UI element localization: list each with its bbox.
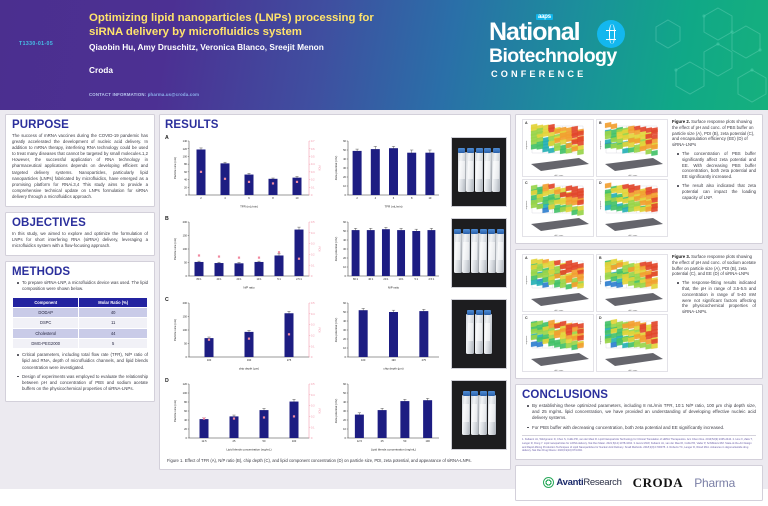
svg-text:Particle size (nm): Particle size (nm) xyxy=(173,238,177,260)
surface-plot-c: CresponsepH / conc. xyxy=(522,179,594,237)
conclusions-section: CONCLUSIONS By establishing these optimi… xyxy=(515,384,763,460)
svg-text:50: 50 xyxy=(403,439,406,443)
svg-text:Lipid blends concentration (mg: Lipid blends concentration (mg/mL) xyxy=(371,448,416,452)
svg-text:0: 0 xyxy=(186,274,188,278)
surface-plot-b: BresponsepH / conc. xyxy=(596,254,668,312)
methods-bullet: Design of experiments was employed to ev… xyxy=(18,374,148,392)
svg-text:2: 2 xyxy=(356,196,358,200)
svg-text:80:1: 80:1 xyxy=(353,277,359,281)
svg-text:60: 60 xyxy=(343,220,346,224)
panel-letter: A xyxy=(525,256,528,260)
svg-text:response: response xyxy=(525,140,528,149)
svg-text:5:1: 5:1 xyxy=(414,277,418,281)
svg-text:pH / conc.: pH / conc. xyxy=(554,235,564,237)
svg-text:40: 40 xyxy=(184,178,187,182)
vial-photo-c xyxy=(451,299,507,369)
panel-letter: D xyxy=(599,181,602,185)
svg-text:0: 0 xyxy=(345,436,347,440)
svg-text:30: 30 xyxy=(343,328,346,332)
svg-text:100: 100 xyxy=(207,358,212,362)
svg-text:40:1: 40:1 xyxy=(368,277,374,281)
poster-canvas: T1330-01-05 Optimizing lipid nanoparticl… xyxy=(0,0,768,489)
author-list: Qiaobin Hu, Amy Druschitz, Veronica Blan… xyxy=(89,42,399,54)
vial-photo-b xyxy=(451,218,507,288)
svg-text:100: 100 xyxy=(183,155,188,159)
figure1-caption: Figure 1. Effect of TFR (A), N/P ratio (… xyxy=(167,458,503,464)
svg-text:response: response xyxy=(525,335,528,344)
svg-text:25: 25 xyxy=(233,439,236,443)
panel-letter: C xyxy=(525,316,528,320)
panel-letter: B xyxy=(599,256,602,260)
svg-text:40:1: 40:1 xyxy=(216,277,222,281)
svg-text:12.5: 12.5 xyxy=(357,439,363,443)
conclusions-bullet: For PBS buffer with decreasing concentra… xyxy=(528,425,756,431)
svg-text:80: 80 xyxy=(184,400,187,404)
cell-component: DODAP xyxy=(13,307,79,317)
svg-text:N/P ratio: N/P ratio xyxy=(243,286,255,290)
svg-text:20:1: 20:1 xyxy=(383,277,389,281)
chart-zeta-potential-a: 0102030405060246810TFR (mL/min)Zeta pote… xyxy=(333,137,443,209)
svg-text:100: 100 xyxy=(183,328,188,332)
svg-text:response: response xyxy=(525,275,528,284)
svg-text:Particle size (nm): Particle size (nm) xyxy=(173,400,177,422)
panel-letter: B xyxy=(599,121,602,125)
svg-text:0: 0 xyxy=(345,274,347,278)
logo-line-national: National xyxy=(489,20,580,45)
cell-component: DMG-PEG2000 xyxy=(13,339,79,349)
objectives-title: OBJECTIVES xyxy=(12,217,148,229)
svg-text:0.2: 0.2 xyxy=(311,179,315,182)
svg-text:100: 100 xyxy=(425,439,430,443)
svg-text:12.5: 12.5 xyxy=(201,439,207,443)
svg-text:Zeta potential (mV): Zeta potential (mV) xyxy=(334,399,338,424)
svg-text:Zeta potential (mV): Zeta potential (mV) xyxy=(334,318,338,343)
avanti-text: AvantiResearch xyxy=(556,477,621,488)
middle-column: RESULTS A02040608010012014000.10.20.30.4… xyxy=(159,114,511,475)
methods-intro: To prepare siRNA-LNP, a microfluidics de… xyxy=(18,280,148,292)
svg-text:30: 30 xyxy=(343,166,346,170)
results-panel-d: D02040608010012000.10.20.30.40.5PDI12.52… xyxy=(165,376,505,456)
svg-text:20: 20 xyxy=(343,337,346,341)
figure2-caption-label: Figure 2. xyxy=(672,119,690,124)
svg-text:Lipid blends concentration (mg: Lipid blends concentration (mg/mL) xyxy=(226,448,271,452)
svg-text:pH / conc.: pH / conc. xyxy=(554,310,564,312)
svg-text:0.5: 0.5 xyxy=(311,156,315,159)
svg-text:Particle size (nm): Particle size (nm) xyxy=(173,157,177,179)
purpose-title: PURPOSE xyxy=(12,119,148,131)
surface-plot-d: DresponsepH / conc. xyxy=(596,314,668,372)
svg-text:2.5:1: 2.5:1 xyxy=(296,277,302,281)
svg-text:0.6: 0.6 xyxy=(311,148,315,151)
figure2-caption: Figure 2. Surface response plots showing… xyxy=(672,119,756,148)
svg-text:0.5: 0.5 xyxy=(311,302,315,305)
vial xyxy=(484,152,492,192)
svg-text:50: 50 xyxy=(343,391,346,395)
vial xyxy=(471,233,479,273)
chart-particle-size-c: 05010015020000.10.20.30.40.5PDI100190275… xyxy=(172,299,322,371)
surface-plot-a: AresponsepH / conc. xyxy=(522,119,594,177)
svg-text:275: 275 xyxy=(422,358,427,362)
cell-ratio: 44 xyxy=(79,328,148,338)
svg-text:150: 150 xyxy=(183,315,188,319)
methods-bullet: Critical parameters, including total flo… xyxy=(18,352,148,370)
svg-text:10: 10 xyxy=(343,265,346,269)
svg-text:6: 6 xyxy=(248,196,250,200)
svg-text:PDI: PDI xyxy=(318,165,322,170)
svg-text:response: response xyxy=(599,140,602,149)
purpose-text: The success of mRNA vaccines during the … xyxy=(12,133,148,200)
svg-text:chip depth (µm): chip depth (µm) xyxy=(239,367,259,371)
purpose-section: PURPOSE The success of mRNA vaccines dur… xyxy=(5,114,155,207)
svg-text:275: 275 xyxy=(287,358,292,362)
affiliation: Croda xyxy=(89,65,113,75)
figure3-text: Figure 3. Surface response plots showing… xyxy=(672,254,756,372)
svg-text:0.3: 0.3 xyxy=(311,243,315,246)
panel-letter: A xyxy=(165,135,169,141)
methods-title: METHODS xyxy=(12,266,148,278)
figure3-caption-label: Figure 3. xyxy=(672,254,690,259)
vial xyxy=(454,233,462,273)
svg-text:20: 20 xyxy=(343,418,346,422)
results-panel-a: A02040608010012014000.10.20.30.40.50.60.… xyxy=(165,133,505,213)
svg-text:8: 8 xyxy=(272,196,274,200)
svg-text:0: 0 xyxy=(311,275,313,278)
svg-text:60: 60 xyxy=(343,301,346,305)
svg-text:40: 40 xyxy=(343,157,346,161)
poster-header: T1330-01-05 Optimizing lipid nanoparticl… xyxy=(0,0,768,110)
svg-text:response: response xyxy=(599,200,602,209)
svg-text:2: 2 xyxy=(200,196,202,200)
croda-logo: CRODA xyxy=(633,475,684,491)
contact-label: CONTACT INFORMATION: xyxy=(89,92,146,97)
svg-text:TFR (mL/min): TFR (mL/min) xyxy=(240,205,258,209)
cell-component: Cholesterol xyxy=(13,328,79,338)
right-column: AresponsepH / conc.BresponsepH / conc.Cr… xyxy=(515,114,763,506)
svg-text:60: 60 xyxy=(184,170,187,174)
avanti-research-logo: AvantiResearch xyxy=(543,477,622,488)
figure2-text: Figure 2. Surface response plots showing… xyxy=(672,119,756,237)
figure3-caption: Figure 3. Surface response plots showing… xyxy=(672,254,756,277)
svg-text:120: 120 xyxy=(183,382,188,386)
cell-component: DSPC xyxy=(13,318,79,328)
surface-plot-b: BresponsepH / conc. xyxy=(596,119,668,177)
svg-text:100: 100 xyxy=(361,358,366,362)
svg-text:0.2: 0.2 xyxy=(311,416,315,419)
column-header-molar-ratio: Molar Ratio (%) xyxy=(79,297,148,307)
svg-text:100: 100 xyxy=(292,439,297,443)
vial xyxy=(496,233,504,273)
svg-text:40: 40 xyxy=(343,400,346,404)
poster-id: T1330-01-05 xyxy=(19,41,53,47)
figure2-bullet: The result also indicated that zeta pote… xyxy=(678,183,756,200)
figure3-surface-plots: AresponsepH / conc.BresponsepH / conc.Cr… xyxy=(522,254,668,372)
objectives-section: OBJECTIVES In this study, we aimed to ex… xyxy=(5,212,155,256)
svg-text:pH / conc.: pH / conc. xyxy=(554,370,564,372)
chart-zeta-potential-c: 0102030405060100190275chip depth (µm)Zet… xyxy=(333,299,443,371)
figure2-bullets: The concentration of PBS buffer signific… xyxy=(672,151,756,200)
figure3-bullet: The response-fitting results indicated t… xyxy=(678,280,756,315)
svg-text:10: 10 xyxy=(343,346,346,350)
svg-text:50: 50 xyxy=(184,342,187,346)
svg-text:N/P ratio: N/P ratio xyxy=(388,286,400,290)
surface-plot-d: DresponsepH / conc. xyxy=(596,179,668,237)
svg-text:response: response xyxy=(599,275,602,284)
svg-text:4: 4 xyxy=(224,196,226,200)
svg-text:20: 20 xyxy=(184,427,187,431)
svg-text:30: 30 xyxy=(343,247,346,251)
svg-text:Particle size (nm): Particle size (nm) xyxy=(173,319,177,341)
results-section: RESULTS A02040608010012014000.10.20.30.4… xyxy=(159,114,511,470)
svg-text:chip depth (µm): chip depth (µm) xyxy=(383,367,403,371)
table-row: DSPC 11 xyxy=(13,318,148,328)
panel-letter: D xyxy=(599,316,602,320)
svg-text:10: 10 xyxy=(343,184,346,188)
svg-text:2.5:1: 2.5:1 xyxy=(429,277,435,281)
svg-text:50: 50 xyxy=(343,229,346,233)
vial xyxy=(462,233,470,273)
methods-section: METHODS To prepare siRNA-LNP, a microflu… xyxy=(5,261,155,402)
conclusions-bullet: By establishing these optimized paramete… xyxy=(528,403,756,422)
svg-text:10: 10 xyxy=(428,196,431,200)
vial-photo-a xyxy=(451,137,507,207)
vial xyxy=(488,395,496,435)
contact-info: CONTACT INFORMATION: pharma.us@croda.com xyxy=(89,92,199,97)
svg-text:60: 60 xyxy=(343,139,346,143)
chart-particle-size-a: 02040608010012014000.10.20.30.40.50.60.7… xyxy=(172,137,322,209)
avanti-rest: Research xyxy=(583,477,621,488)
panel-letter: D xyxy=(165,378,169,384)
logo-line-biotechnology: Biotechnology xyxy=(489,45,617,67)
svg-text:0.1: 0.1 xyxy=(311,345,315,348)
svg-text:0.4: 0.4 xyxy=(311,232,315,235)
references: 1. Kulkarni JA, Witzigmann D, Chen S, Cu… xyxy=(522,435,756,453)
svg-text:10:1: 10:1 xyxy=(399,277,405,281)
vial xyxy=(466,152,474,192)
svg-text:150: 150 xyxy=(183,234,188,238)
vial xyxy=(488,233,496,273)
svg-text:TFR (mL/min): TFR (mL/min) xyxy=(385,205,403,209)
left-column: PURPOSE The success of mRNA vaccines dur… xyxy=(5,114,155,407)
panel-letter: A xyxy=(525,121,528,125)
logo-line-conference: CONFERENCE xyxy=(491,69,586,79)
svg-text:100: 100 xyxy=(183,247,188,251)
svg-text:120: 120 xyxy=(183,147,188,151)
svg-text:0: 0 xyxy=(186,436,188,440)
poster-title: Optimizing lipid nanoparticles (LNPs) pr… xyxy=(89,11,389,39)
svg-text:8: 8 xyxy=(411,196,413,200)
table-row: DODAP 40 xyxy=(13,307,148,317)
vial xyxy=(475,314,483,354)
svg-text:pH / conc.: pH / conc. xyxy=(628,175,638,177)
dna-icon xyxy=(597,20,625,48)
objectives-text: In this study, we aimed to explore and o… xyxy=(12,231,148,249)
svg-text:0.4: 0.4 xyxy=(311,313,315,316)
svg-text:0: 0 xyxy=(186,193,188,197)
conclusions-bullets: By establishing these optimized paramete… xyxy=(522,403,756,431)
svg-text:20: 20 xyxy=(343,175,346,179)
footer-logos-section: AvantiResearch CRODA Pharma xyxy=(515,465,763,501)
svg-text:0.2: 0.2 xyxy=(311,335,315,338)
svg-text:6: 6 xyxy=(393,196,395,200)
svg-text:pH / conc.: pH / conc. xyxy=(554,175,564,177)
svg-text:10: 10 xyxy=(296,196,299,200)
lipid-composition-table: Component Molar Ratio (%) DODAP 40 DSPC … xyxy=(12,297,148,350)
svg-text:0: 0 xyxy=(311,194,313,197)
results-panel-c: C05010015020000.10.20.30.40.5PDI10019027… xyxy=(165,295,505,375)
pharma-logo: Pharma xyxy=(694,476,735,490)
chart-particle-size-b: 05010015020000.10.20.30.40.5PDI80:140:12… xyxy=(172,218,322,290)
svg-text:PDI: PDI xyxy=(318,408,322,413)
svg-text:40: 40 xyxy=(343,319,346,323)
column-header-component: Component xyxy=(13,297,79,307)
conclusions-title: CONCLUSIONS xyxy=(522,389,756,401)
svg-text:200: 200 xyxy=(183,301,188,305)
svg-text:0.5: 0.5 xyxy=(311,221,315,224)
svg-text:0.1: 0.1 xyxy=(311,426,315,429)
figure2-bullet: The concentration of PBS buffer signific… xyxy=(678,151,756,180)
svg-text:0.3: 0.3 xyxy=(311,171,315,174)
results-panels: A02040608010012014000.10.20.30.40.50.60.… xyxy=(165,133,505,456)
svg-text:140: 140 xyxy=(183,139,188,143)
vial xyxy=(484,314,492,354)
results-title: RESULTS xyxy=(165,119,505,131)
svg-text:0.4: 0.4 xyxy=(311,394,315,397)
vial xyxy=(492,152,500,192)
svg-text:0.7: 0.7 xyxy=(311,140,315,143)
table-header-row: Component Molar Ratio (%) xyxy=(13,297,148,307)
surface-plot-a: AresponsepH / conc. xyxy=(522,254,594,312)
svg-text:10:1: 10:1 xyxy=(256,277,262,281)
contact-email: pharma.us@croda.com xyxy=(148,92,199,97)
svg-text:0.2: 0.2 xyxy=(311,254,315,257)
chart-zeta-potential-d: 010203040506012.52550100Lipid blends con… xyxy=(333,380,443,452)
svg-text:0: 0 xyxy=(345,355,347,359)
methods-intro-list: To prepare siRNA-LNP, a microfluidics de… xyxy=(12,280,148,292)
svg-text:0: 0 xyxy=(186,355,188,359)
svg-text:50: 50 xyxy=(343,310,346,314)
svg-text:pH / conc.: pH / conc. xyxy=(628,310,638,312)
svg-text:30: 30 xyxy=(343,409,346,413)
svg-text:40: 40 xyxy=(184,418,187,422)
svg-text:pH / conc.: pH / conc. xyxy=(628,235,638,237)
svg-text:PDI: PDI xyxy=(318,246,322,251)
svg-text:4: 4 xyxy=(375,196,377,200)
vial xyxy=(479,395,487,435)
svg-text:20:1: 20:1 xyxy=(236,277,242,281)
svg-text:5:1: 5:1 xyxy=(277,277,281,281)
svg-text:0: 0 xyxy=(345,193,347,197)
svg-text:40: 40 xyxy=(343,238,346,242)
svg-text:25: 25 xyxy=(381,439,384,443)
vial xyxy=(462,395,470,435)
surface-plot-c: CresponsepH / conc. xyxy=(522,314,594,372)
table-row: Cholesterol 44 xyxy=(13,328,148,338)
svg-text:190: 190 xyxy=(247,358,252,362)
svg-text:response: response xyxy=(599,335,602,344)
svg-text:0.5: 0.5 xyxy=(311,383,315,386)
figure2-surface-plots: AresponsepH / conc.BresponsepH / conc.Cr… xyxy=(522,119,668,237)
svg-text:100: 100 xyxy=(183,391,188,395)
svg-text:0: 0 xyxy=(311,356,313,359)
svg-text:200: 200 xyxy=(183,220,188,224)
cell-ratio: 5 xyxy=(79,339,148,349)
svg-text:10: 10 xyxy=(343,427,346,431)
panel-letter: B xyxy=(165,216,169,222)
svg-text:0.1: 0.1 xyxy=(311,264,315,267)
svg-text:20: 20 xyxy=(343,256,346,260)
svg-text:PDI: PDI xyxy=(318,327,322,332)
svg-text:60: 60 xyxy=(184,409,187,413)
chart-particle-size-d: 02040608010012000.10.20.30.40.5PDI12.525… xyxy=(172,380,322,452)
vial xyxy=(458,152,466,192)
vial-photo-d xyxy=(451,380,507,450)
panel-letter: C xyxy=(165,297,169,303)
svg-text:0.4: 0.4 xyxy=(311,163,315,166)
cell-ratio: 11 xyxy=(79,318,148,328)
svg-text:20: 20 xyxy=(184,185,187,189)
vial xyxy=(471,395,479,435)
vial xyxy=(466,314,474,354)
svg-text:0.1: 0.1 xyxy=(311,186,315,189)
conference-logo: aaps National Biotechnology CONFERENCE xyxy=(489,14,639,96)
svg-text:80:1: 80:1 xyxy=(196,277,202,281)
svg-text:60: 60 xyxy=(343,382,346,386)
avanti-bold: Avanti xyxy=(556,477,583,488)
figure3-section: AresponsepH / conc.BresponsepH / conc.Cr… xyxy=(515,249,763,379)
table-row: DMG-PEG2000 5 xyxy=(13,339,148,349)
svg-text:pH / conc.: pH / conc. xyxy=(628,370,638,372)
cell-ratio: 40 xyxy=(79,307,148,317)
svg-text:Zeta potential (mV): Zeta potential (mV) xyxy=(334,156,338,181)
svg-text:190: 190 xyxy=(391,358,396,362)
figure3-bullets: The response-fitting results indicated t… xyxy=(672,280,756,315)
svg-text:0: 0 xyxy=(311,437,313,440)
vial xyxy=(479,233,487,273)
svg-text:response: response xyxy=(525,200,528,209)
svg-text:Zeta potential (mV): Zeta potential (mV) xyxy=(334,237,338,262)
figure2-section: AresponsepH / conc.BresponsepH / conc.Cr… xyxy=(515,114,763,244)
svg-text:0.3: 0.3 xyxy=(311,405,315,408)
methods-bullets: Critical parameters, including total flo… xyxy=(12,352,148,392)
chart-zeta-potential-b: 010203040506080:140:120:110:15:12.5:1N/P… xyxy=(333,218,443,290)
results-panel-b: B05010015020000.10.20.30.40.5PDI80:140:1… xyxy=(165,214,505,294)
svg-text:0.3: 0.3 xyxy=(311,324,315,327)
svg-text:50: 50 xyxy=(184,261,187,265)
svg-text:80: 80 xyxy=(184,162,187,166)
panel-letter: C xyxy=(525,181,528,185)
avanti-flower-icon xyxy=(543,477,554,488)
svg-text:50: 50 xyxy=(343,148,346,152)
vial xyxy=(475,152,483,192)
svg-text:50: 50 xyxy=(263,439,266,443)
